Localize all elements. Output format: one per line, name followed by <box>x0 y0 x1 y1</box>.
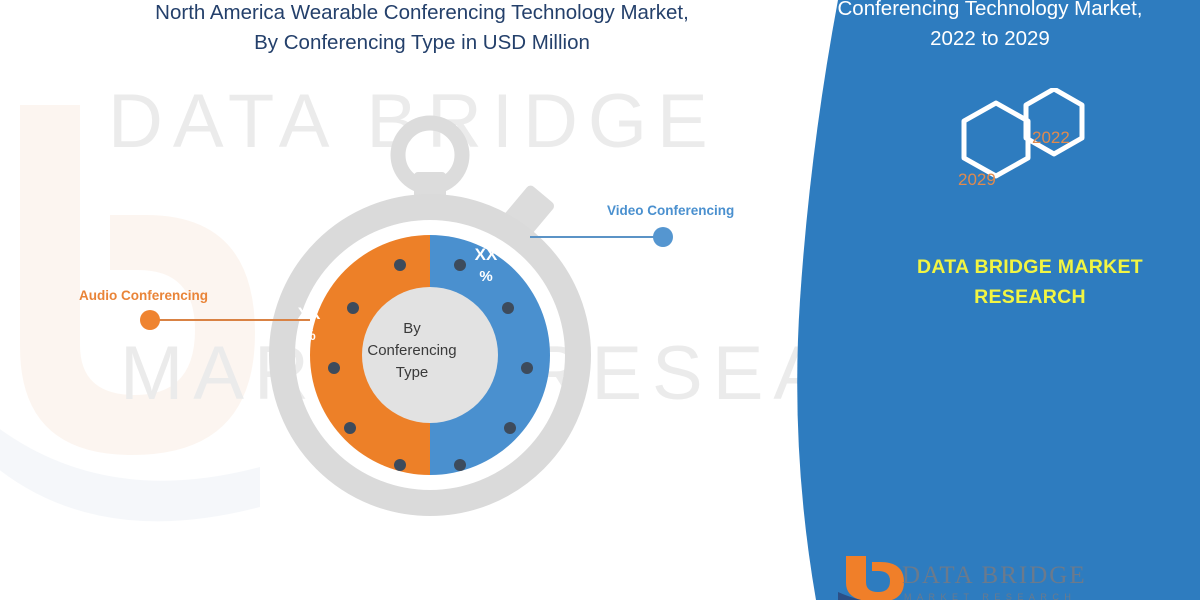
panel-title-line-1: Conferencing Technology Market, <box>790 0 1190 24</box>
hexagon-label-2022: 2022 <box>1032 128 1070 148</box>
footer-logo-text: DATA BRIDGE <box>902 562 1087 590</box>
brand-line-1: DATA BRIDGE MARKET <box>870 252 1190 282</box>
brand-name: DATA BRIDGE MARKET RESEARCH <box>870 252 1190 312</box>
footer-logo-subtext: MARKET RESEARCH <box>904 592 1076 600</box>
infographic-canvas: DATA BRIDGE MARKET RESEARCH North Americ… <box>0 0 1200 600</box>
panel-title-line-2: 2022 to 2029 <box>790 24 1190 54</box>
brand-line-2: RESEARCH <box>870 282 1190 312</box>
hexagon-label-2029: 2029 <box>958 170 996 190</box>
panel-title: Conferencing Technology Market, 2022 to … <box>790 0 1190 54</box>
hexagon-2029-shape <box>964 103 1028 176</box>
year-hexagon-badges <box>920 88 1120 223</box>
